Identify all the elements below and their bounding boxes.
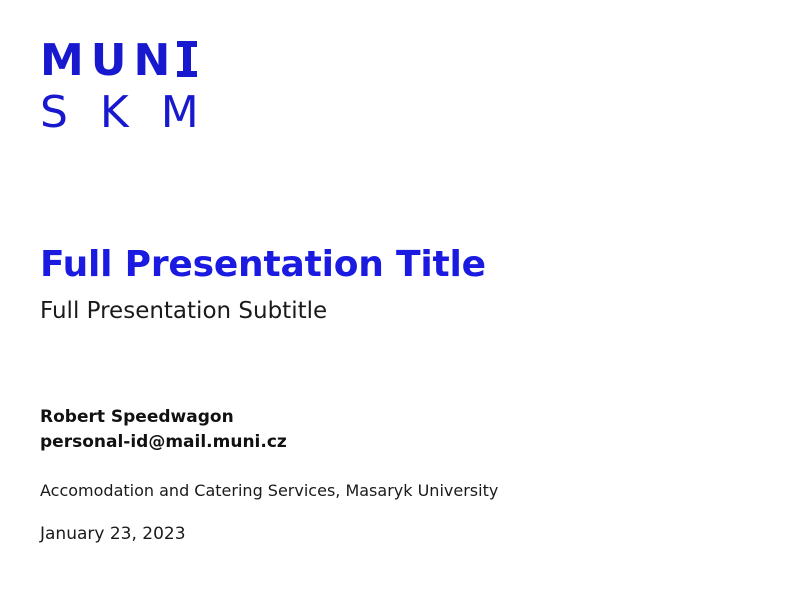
logo-muni-text: MUN bbox=[40, 35, 177, 86]
author-email: personal-id@mail.muni.cz bbox=[40, 430, 754, 455]
page-title: Full Presentation Title bbox=[40, 242, 754, 288]
presentation-title-slide: MUN S K M Full Presentation Title Full P… bbox=[0, 0, 794, 596]
muni-skm-logo: MUN S K M bbox=[40, 40, 240, 134]
author-name: Robert Speedwagon bbox=[40, 405, 754, 430]
logo-skm-wordmark: S K M bbox=[40, 92, 240, 134]
logo-muni-wordmark: MUN bbox=[40, 40, 240, 82]
author-affiliation: Accomodation and Catering Services, Masa… bbox=[40, 480, 754, 502]
presentation-date: January 23, 2023 bbox=[40, 523, 754, 545]
logo-letter-i-icon bbox=[177, 41, 197, 77]
title-block: Full Presentation Title Full Presentatio… bbox=[40, 242, 754, 326]
author-block: Robert Speedwagon personal-id@mail.muni.… bbox=[40, 405, 754, 545]
page-subtitle: Full Presentation Subtitle bbox=[40, 296, 754, 326]
